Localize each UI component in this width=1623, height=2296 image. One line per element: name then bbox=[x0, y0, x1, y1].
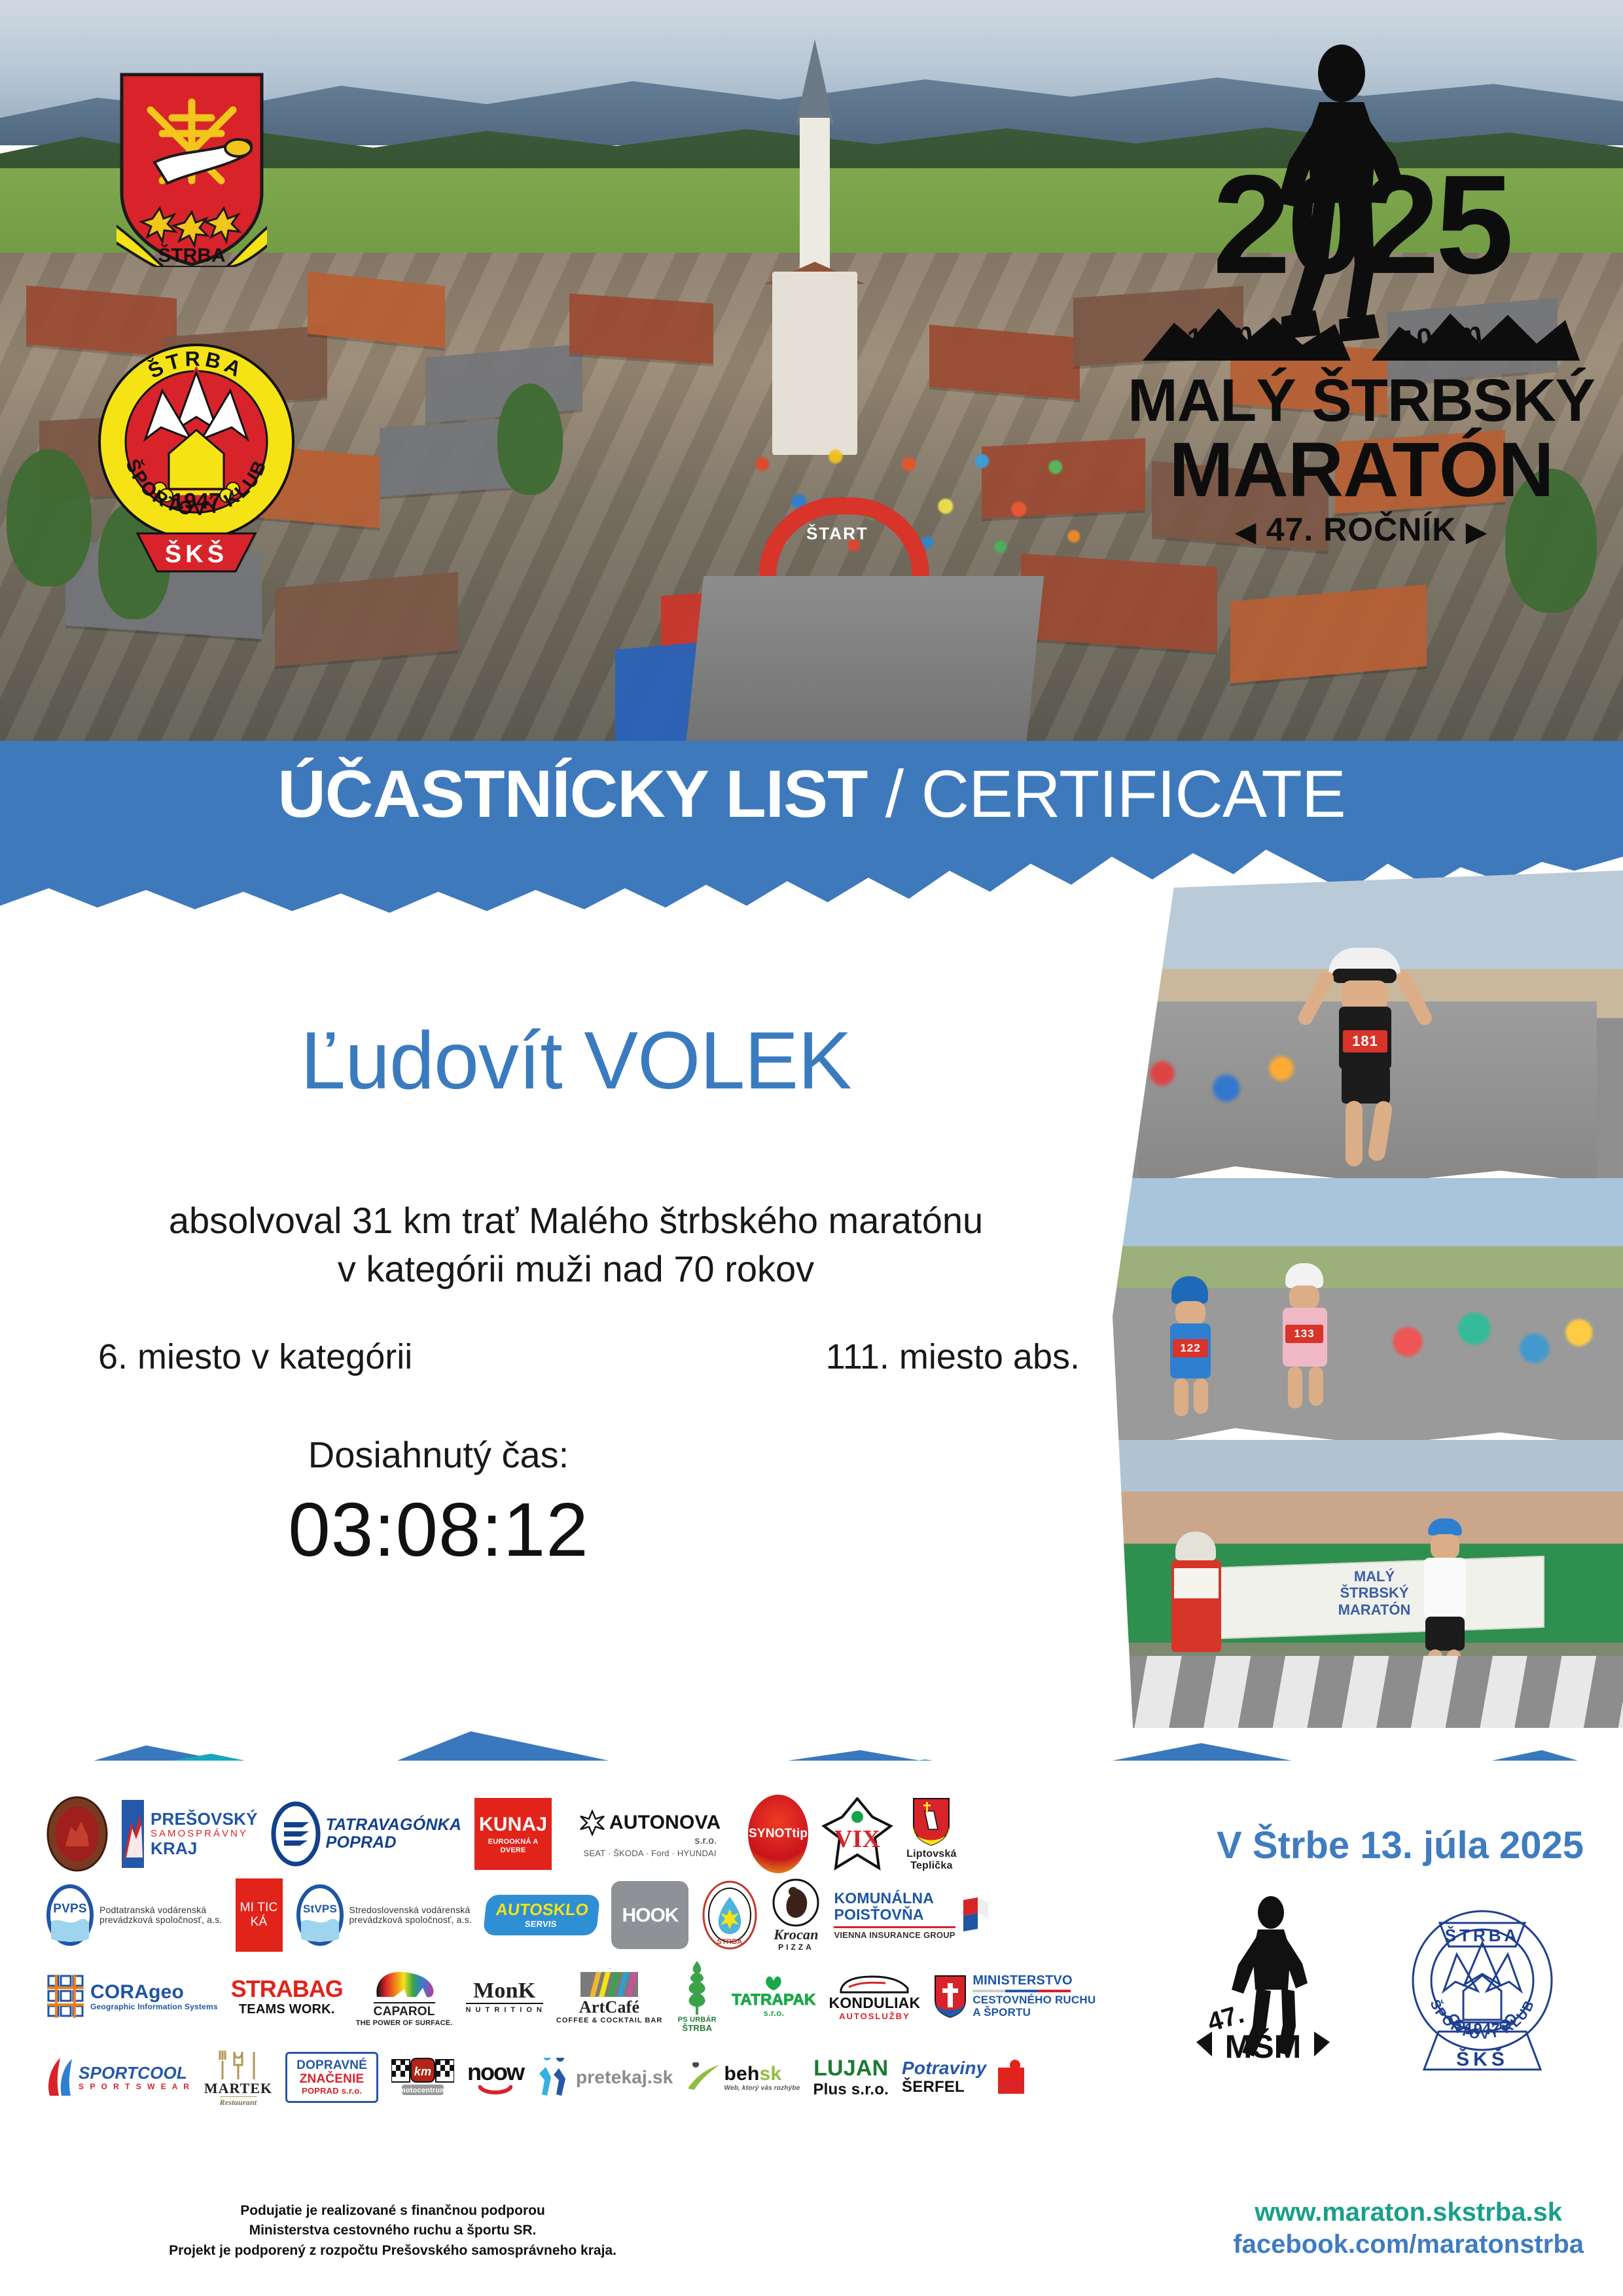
legal-notice: Podujatie je realizované s finančnou pod… bbox=[46, 2201, 740, 2261]
bib-number: 133 bbox=[1285, 1325, 1323, 1343]
sponsor-text-1: STRABAG bbox=[231, 1976, 343, 2002]
sponsor-logo[interactable]: CAPAROL THE POWER OF SURFACE. bbox=[356, 1960, 453, 2033]
sponsor-text-2: SERVIS bbox=[524, 1920, 557, 1929]
sponsor-text-1: LUJAN bbox=[813, 2056, 888, 2081]
sponsor-logo[interactable]: ArtCafé COFFEE & COCKTAIL BAR bbox=[556, 1960, 662, 2033]
sponsor-logo-grid: PROGRAM TRENČÍN PREŠOVSKÝ SAMOSPRÁVNY KR… bbox=[39, 1793, 1152, 2118]
certificate-title: ÚČASTNÍCKY LIST / CERTIFICATE bbox=[0, 761, 1623, 827]
sponsor-logo[interactable]: HOOK bbox=[611, 1878, 688, 1952]
sponsor-text-2: ŠTRBA bbox=[717, 1937, 743, 1946]
issue-date: V Štrbe 13. júla 2025 bbox=[1217, 1823, 1584, 1867]
participant-name: Ľudovít VOLEK bbox=[79, 1014, 1073, 1107]
sponsor-text-1: TATRAPAK bbox=[732, 1992, 815, 2009]
sponsor-text-1: CAPAROL bbox=[374, 2002, 435, 2019]
sponsor-text-2: N U T R I T I O N bbox=[466, 2003, 543, 2014]
sponsor-text-2: POISŤOVŇA bbox=[834, 1907, 923, 1923]
stamp-top-text: ŠTRBA bbox=[1445, 1926, 1520, 1945]
sponsor-text-3: A ŠPORTU bbox=[972, 2007, 1031, 2019]
sponsor-text-1: StVPS bbox=[303, 1903, 337, 1915]
sponsor-logo[interactable]: noow bbox=[467, 2041, 524, 2114]
race-road bbox=[684, 576, 1044, 766]
finish-time: 03:08:12 bbox=[79, 1486, 798, 1573]
club-stamp: ŠTRBA 1947 ŠPORTOVÝ KLUB ŠKŠ bbox=[1400, 1892, 1564, 2075]
sponsor-logo[interactable]: Potraviny ŠERFEL bbox=[902, 2041, 1024, 2114]
sponsor-text-2: motocentrum bbox=[399, 2087, 447, 2094]
arrow-right-icon: ▶ bbox=[1466, 518, 1487, 547]
sponsor-text-1: ArtCafé bbox=[579, 1998, 639, 2017]
sponsor-text-1: MINISTERSTVO bbox=[972, 1973, 1072, 1988]
achievement-line-1: absolvoval 31 km trať Malého štrbského m… bbox=[79, 1199, 1073, 1242]
sponsor-text-1: PREŠOVSKÝ bbox=[151, 1810, 258, 1829]
sponsor-text-2: ŠTRBA bbox=[682, 2024, 712, 2033]
sponsor-text-1: Potraviny bbox=[902, 2058, 986, 2079]
legal-line-1: Podujatie je realizované s finančnou pod… bbox=[46, 2201, 740, 2221]
sks-club-emblem: 1947 ŠTRBA ŠPORTOVÝ KLUB ŠKŠ bbox=[98, 317, 294, 573]
msm-abbrev: MŠM bbox=[1225, 2028, 1302, 2062]
sponsor-logo[interactable]: MARTEK Restaurant bbox=[204, 2041, 272, 2114]
sponsor-text-2: Stredoslovenská vodárenská bbox=[349, 1905, 471, 1915]
sponsor-footer: PROGRAM TRENČÍN PREŠOVSKÝ SAMOSPRÁVNY KR… bbox=[0, 1761, 1623, 2296]
sponsor-text-1: Liptovská bbox=[906, 1848, 957, 1860]
event-logo: 2025 31 km 10 km MALÝ ŠTRBSKÝ MARATÓN ◀ bbox=[1126, 39, 1597, 583]
title-english: CERTIFICATE bbox=[921, 757, 1345, 831]
sponsor-text-2: SAMOSPRÁVNY bbox=[151, 1829, 248, 1840]
sponsor-text-1: VIX bbox=[834, 1825, 880, 1853]
sponsor-logo[interactable]: km motocentrum bbox=[391, 2041, 454, 2114]
sponsor-text-2: PIZZA bbox=[778, 1943, 814, 1952]
sponsor-text-2: Podtatranská vodárenská bbox=[99, 1905, 206, 1915]
title-slovak: ÚČASTNÍCKY LIST bbox=[277, 757, 867, 831]
strba-coat-of-arms: ŠTRBA bbox=[116, 71, 267, 267]
sponsor-logo[interactable]: SPORTCOOL S P O R T S W E A R bbox=[46, 2041, 191, 2114]
banner-caption-1: MALÝ bbox=[1354, 1568, 1395, 1585]
sponsor-text-2: ŠERFEL bbox=[902, 2079, 965, 2096]
club-abbrev: ŠKŠ bbox=[165, 539, 228, 568]
sponsor-logo[interactable]: PROGRAM TRENČÍN bbox=[46, 1797, 109, 1871]
sponsor-text-2: S P O R T S W E A R bbox=[79, 2083, 191, 2091]
sponsor-logo[interactable]: VIX bbox=[821, 1797, 893, 1871]
sponsor-text-1: Krocan bbox=[774, 1927, 818, 1943]
start-label: ŠTART bbox=[806, 524, 868, 544]
sponsor-logo[interactable]: TATRAPAK s.r.o. bbox=[732, 1960, 815, 2033]
photo-female-finisher: 181 bbox=[1113, 870, 1623, 1178]
sponsor-text-1: MonK bbox=[473, 1979, 535, 2003]
sponsor-logo[interactable]: AUTONOVA s.r.o. SEAT · ŠKODA · Ford · HY… bbox=[565, 1797, 735, 1871]
sponsor-text-2: sk bbox=[759, 2063, 781, 2085]
sponsor-text-1: MI TIC KÁ bbox=[236, 1901, 283, 1929]
sponsor-text-2: s.r.o. bbox=[695, 1836, 717, 1847]
placement-row: 6. miesto v kategórii 111. miesto abs. bbox=[98, 1336, 1080, 1377]
sponsor-text-1: TATRAVAGÓNKA bbox=[326, 1816, 461, 1835]
sponsor-logo[interactable]: Liptovská Teplička bbox=[906, 1797, 957, 1871]
sponsor-text-1: pretekaj.sk bbox=[576, 2068, 673, 2088]
sponsor-text-2: s.r.o. bbox=[764, 2009, 785, 2018]
sponsor-logo[interactable]: Krocan PIZZA bbox=[771, 1878, 821, 1952]
sponsor-logo[interactable]: PVPS Podtatranská vodárenská prevádzková… bbox=[46, 1878, 223, 1952]
sponsor-text-1: KONDULIAK bbox=[829, 1995, 921, 2011]
sponsor-text-3: POPRAD s.r.o. bbox=[302, 2087, 362, 2096]
edition-text: 47. ROČNÍK bbox=[1266, 511, 1457, 548]
sponsor-text-2: Restaurant bbox=[220, 2096, 257, 2107]
photo-trail-runners: 122 133 bbox=[1113, 1178, 1623, 1440]
title-separator: / bbox=[867, 757, 921, 831]
certificate-page: ŠTART ŠTRBA bbox=[0, 0, 1623, 2296]
sponsor-text-3: VIENNA INSURANCE GROUP bbox=[834, 1931, 955, 1940]
photo-collage: 181 122 133 bbox=[1113, 870, 1623, 1728]
facebook-link[interactable]: facebook.com/maratonstrba bbox=[1233, 2230, 1584, 2259]
time-label: Dosiahnutý čas: bbox=[79, 1433, 798, 1476]
sponsor-logo[interactable]: SYNOTtip bbox=[748, 1797, 808, 1871]
achievement-line-2: v kategórii muži nad 70 rokov bbox=[79, 1247, 1073, 1290]
sponsor-text-3: KRAJ bbox=[151, 1839, 198, 1858]
sponsor-text-1: km bbox=[414, 2065, 431, 2078]
legal-line-3: Projekt je podporený z rozpočtu Prešovsk… bbox=[46, 2241, 740, 2261]
website-link[interactable]: www.maraton.skstrba.sk bbox=[1233, 2198, 1584, 2227]
sponsor-text-1: KUNAJ bbox=[479, 1814, 547, 1835]
sponsor-text-2: Geographic Information Systems bbox=[90, 2003, 218, 2011]
sponsor-logo[interactable]: CORAgeo Geographic Information Systems bbox=[46, 1960, 218, 2033]
sponsor-text-1: KOMUNÁLNA bbox=[834, 1890, 934, 1907]
sponsor-logo[interactable]: STRABAG TEAMS WORK. bbox=[231, 1960, 343, 2033]
sponsor-text-2: EUROOKNÁ A DVERE bbox=[485, 1838, 541, 1854]
sponsor-text-1: CORAgeo bbox=[90, 1981, 184, 2003]
sponsor-text-2: POPRAD bbox=[326, 1834, 397, 1852]
sponsor-text-1: MARTEK bbox=[204, 2081, 272, 2096]
sponsor-logo[interactable]: MINISTERSTVO CESTOVNÉHO RUCHU A ŠPORTU bbox=[933, 1960, 1096, 2033]
sponsor-text-1: HOOK bbox=[622, 1905, 678, 1926]
sponsor-text-2: Teplička bbox=[910, 1860, 952, 1872]
sponsor-logo[interactable]: pretekaj.sk bbox=[537, 2041, 673, 2114]
sponsor-text-1: AUTONOVA bbox=[609, 1812, 721, 1833]
sponsor-text-1: PVPS bbox=[53, 1902, 87, 1916]
sponsor-text-3: Web, ktorý vás rozhýbe bbox=[724, 2085, 800, 2092]
msm-logo: 47. MŠM bbox=[1185, 1892, 1348, 2062]
stamp-abbrev: ŠKŠ bbox=[1456, 2048, 1508, 2070]
sponsor-logo[interactable]: LUJAN Plus s.r.o. bbox=[813, 2041, 889, 2114]
sponsor-logo[interactable]: AUTOSKLO SERVIS bbox=[485, 1878, 598, 1952]
sponsor-text-2: CESTOVNÉHO RUCHU bbox=[972, 1994, 1096, 2007]
sponsor-text-1: SYNOTtip bbox=[749, 1827, 808, 1841]
sponsor-logo[interactable]: StVPS Stredoslovenská vodárenská prevádz… bbox=[296, 1878, 473, 1952]
sponsor-text-2: THE POWER OF SURFACE. bbox=[356, 2019, 453, 2027]
legal-line-2: Ministerstva cestovného ruchu a športu S… bbox=[46, 2221, 740, 2240]
bib-number: 181 bbox=[1343, 1030, 1387, 1052]
arrow-left-icon: ◀ bbox=[1236, 518, 1257, 547]
sponsor-text-1: beh bbox=[724, 2063, 760, 2085]
sponsor-text-2: Plus s.r.o. bbox=[813, 2081, 889, 2098]
event-edition: ◀ 47. ROČNÍK ▶ bbox=[1126, 511, 1597, 548]
sponsor-logo[interactable]: KONDULIAK AUTOSLUŽBY bbox=[829, 1960, 921, 2033]
sponsor-logo[interactable]: ŠTRBA bbox=[702, 1878, 758, 1952]
sponsor-text-3: prevádzková spoločnosť, a.s. bbox=[349, 1915, 473, 1925]
sponsor-logo[interactable]: DOPRAVNÉ ZNAČENIE POPRAD s.r.o. bbox=[285, 2041, 378, 2114]
sponsor-text-1: SPORTCOOL bbox=[79, 2064, 187, 2083]
sponsor-logo[interactable]: MonK N U T R I T I O N bbox=[466, 1960, 543, 2033]
sponsor-logo[interactable]: PS URBÁR ŠTRBA bbox=[675, 1960, 719, 2033]
crest-banner-text: ŠTRBA bbox=[158, 244, 225, 266]
sponsor-logo[interactable]: MI TIC KÁ bbox=[236, 1878, 283, 1952]
contact-links: www.maraton.skstrba.sk facebook.com/mara… bbox=[1233, 2198, 1584, 2259]
event-name-line2: MARATÓN bbox=[1126, 425, 1597, 514]
sponsor-text-2: COFFEE & COCKTAIL BAR bbox=[556, 2017, 662, 2024]
sponsor-brands: SEAT · ŠKODA · Ford · HYUNDAI bbox=[583, 1849, 716, 1858]
sponsor-text-1: AUTOSKLO bbox=[495, 1901, 589, 1920]
sponsor-text-3: prevádzková spoločnosť, a.s. bbox=[99, 1915, 223, 1925]
church-tower bbox=[800, 118, 830, 281]
sponsor-logo[interactable]: PREŠOVSKÝ SAMOSPRÁVNY KRAJ bbox=[122, 1797, 258, 1871]
sponsor-text-1: noow bbox=[467, 2059, 524, 2085]
bib-number: 122 bbox=[1173, 1339, 1208, 1357]
sponsor-text-2: ZNAČENIE bbox=[300, 2073, 365, 2087]
sponsor-logo[interactable]: KUNAJ EUROOKNÁ A DVERE bbox=[474, 1797, 552, 1871]
sponsor-text-1: DOPRAVNÉ bbox=[296, 2059, 367, 2073]
sponsor-logo[interactable]: behsk Web, ktorý vás rozhýbe bbox=[687, 2041, 800, 2114]
place-in-category: 6. miesto v kategórii bbox=[98, 1336, 412, 1377]
sponsor-text-2: TEAMS WORK. bbox=[239, 2002, 335, 2017]
place-absolute: 111. miesto abs. bbox=[826, 1336, 1080, 1377]
sponsor-text-2: AUTOSLUŽBY bbox=[839, 2012, 910, 2021]
sponsor-logo[interactable]: TATRAVAGÓNKA POPRAD bbox=[271, 1797, 461, 1871]
sponsor-logo[interactable]: KOMUNÁLNA POISŤOVŇA VIENNA INSURANCE GRO… bbox=[834, 1878, 989, 1952]
